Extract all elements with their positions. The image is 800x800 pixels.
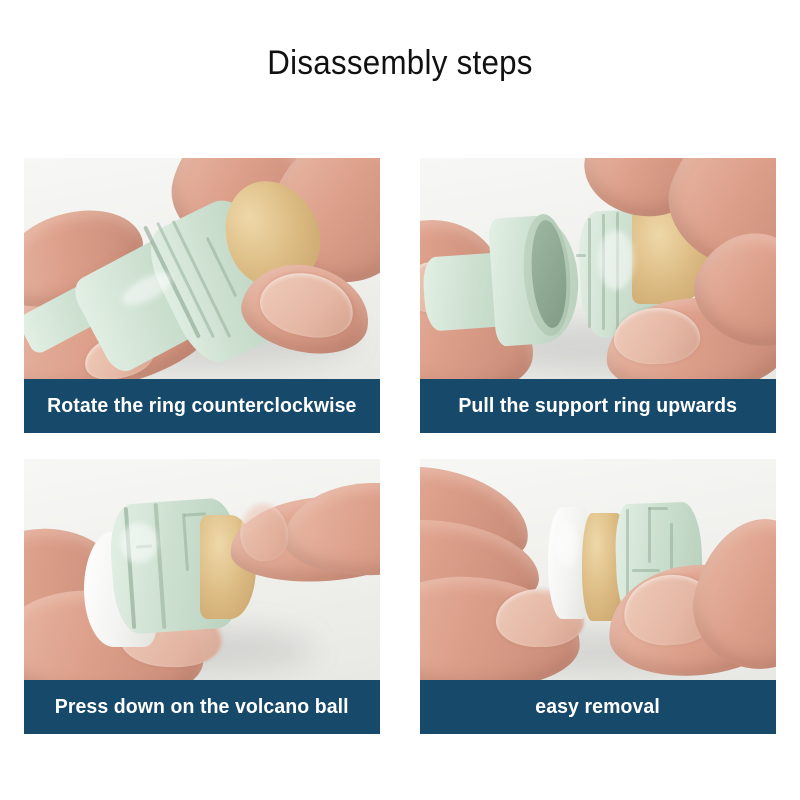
- page-title: Disassembly steps: [32, 44, 768, 83]
- step-caption-1: Rotate the ring counterclockwise: [47, 394, 356, 418]
- step-panel-3[interactable]: Press down on the volcano ball: [24, 459, 380, 734]
- step-panel-1[interactable]: Rotate the ring counterclockwise: [24, 158, 380, 433]
- step-panel-4[interactable]: easy removal: [420, 459, 776, 734]
- step-panel-2[interactable]: Pull the support ring upwards: [420, 158, 776, 433]
- step-photo-1: [24, 158, 380, 379]
- step-photo-3: [24, 459, 380, 680]
- step-caption-bar-2: Pull the support ring upwards: [420, 379, 776, 433]
- step-caption-bar-1: Rotate the ring counterclockwise: [24, 379, 380, 433]
- step-photo-2: [420, 158, 776, 379]
- step-caption-bar-3: Press down on the volcano ball: [24, 680, 380, 734]
- step-caption-4: easy removal: [536, 695, 661, 719]
- step-caption-2: Pull the support ring upwards: [459, 394, 738, 418]
- step-caption-3: Press down on the volcano ball: [55, 695, 349, 719]
- step-photo-4: [420, 459, 776, 680]
- step-caption-bar-4: easy removal: [420, 680, 776, 734]
- steps-grid: Rotate the ring counterclockwise: [24, 158, 776, 734]
